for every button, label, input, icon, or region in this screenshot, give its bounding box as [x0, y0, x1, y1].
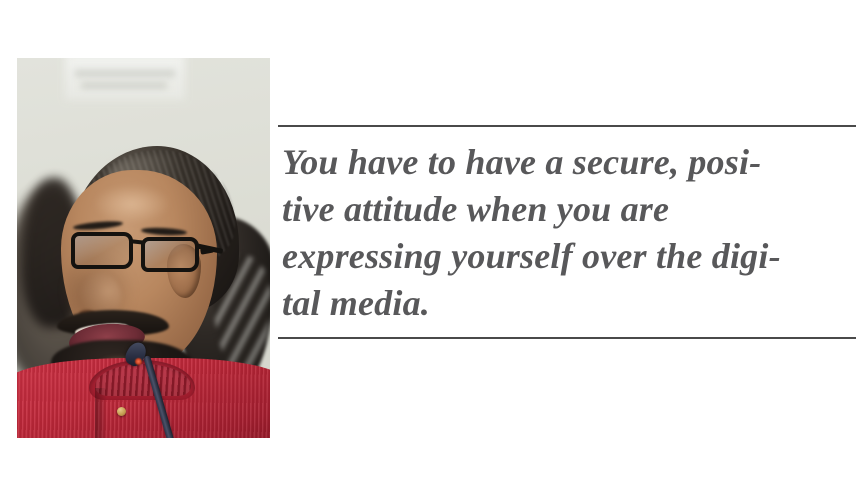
subject-forehead-highlight	[93, 184, 171, 224]
quote-rule-bottom	[278, 337, 856, 339]
quote-text: You have to have a secure, posi- tive at…	[278, 127, 856, 337]
photo-subject	[17, 58, 270, 438]
quote-line: You have to have a secure, posi-	[282, 139, 856, 186]
eyeglasses-temple-end	[200, 247, 214, 255]
eyeglasses-temple	[195, 243, 223, 254]
quote-line: expressing yourself over the digi-	[282, 233, 856, 280]
microphone-indicator-light	[135, 358, 142, 365]
kurta-placket	[95, 388, 115, 438]
eyeglasses-lens-left	[71, 232, 133, 269]
eyeglasses-icon	[57, 230, 219, 276]
portrait-photo	[17, 58, 270, 438]
quote-line: tal media.	[282, 280, 856, 327]
eyeglasses-lens-right	[141, 237, 199, 272]
pull-quote: You have to have a secure, posi- tive at…	[278, 125, 856, 339]
kurta-button	[117, 407, 126, 416]
quote-line: tive attitude when you are	[282, 186, 856, 233]
